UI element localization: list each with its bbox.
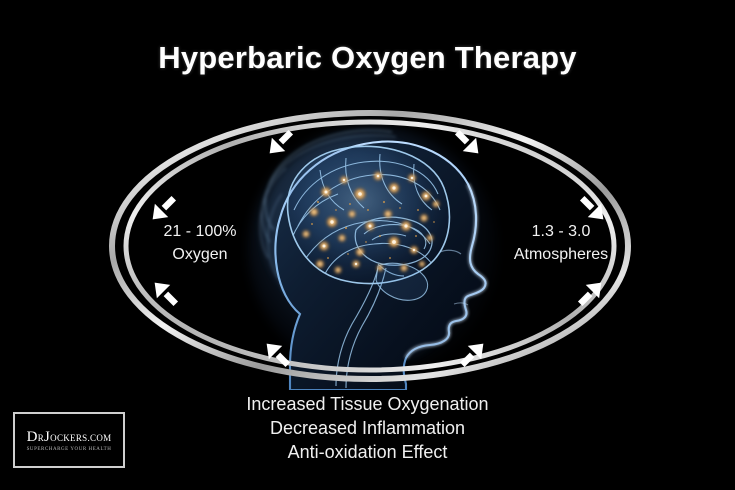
atmospheres-label: 1.3 - 3.0 Atmospheres	[495, 220, 627, 266]
arrow-left-lower	[148, 276, 183, 311]
oxygen-label-name: Oxygen	[140, 243, 260, 266]
page-title: Hyperbaric Oxygen Therapy	[0, 38, 735, 78]
logo-ockers: OCKERS	[50, 433, 87, 443]
logo-domain: .COM	[87, 433, 111, 443]
head-brain-illustration	[228, 118, 528, 390]
atmospheres-label-value: 1.3 - 3.0	[495, 220, 627, 243]
logo-wordmark: DRJOCKERS.COM	[27, 429, 112, 446]
logo-d: D	[27, 429, 38, 445]
atmospheres-label-name: Atmospheres	[495, 243, 627, 266]
arrow-right-lower	[573, 276, 608, 311]
drjockers-logo[interactable]: DRJOCKERS.COM Supercharge Your Health	[13, 412, 125, 468]
oxygen-label-value: 21 - 100%	[140, 220, 260, 243]
head-profile-svg	[228, 118, 528, 390]
logo-tagline: Supercharge Your Health	[27, 447, 112, 452]
oxygen-label: 21 - 100% Oxygen	[140, 220, 260, 266]
infographic-canvas: Hyperbaric Oxygen Therapy	[0, 0, 735, 490]
